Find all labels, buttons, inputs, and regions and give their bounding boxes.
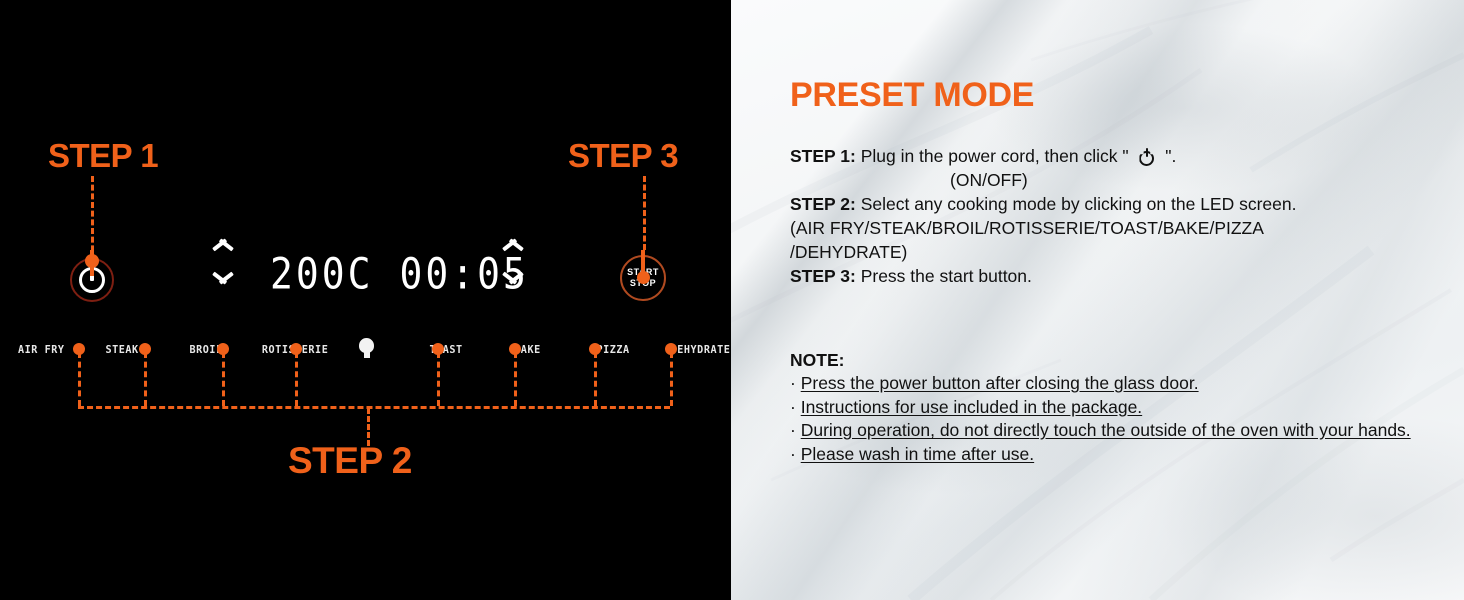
step-1-text-b: ". (1160, 146, 1176, 166)
connector-drop-3 (295, 352, 298, 406)
step-3-bold: STEP 3: (790, 266, 856, 286)
step-2-modes-line-2: /DEHYDRATE) (790, 240, 1450, 264)
note-item-text: During operation, do not directly touch … (801, 420, 1411, 440)
chevron-up-icon[interactable] (210, 238, 236, 253)
note-list: · Press the power button after closing t… (790, 372, 1464, 466)
power-icon (1138, 148, 1155, 165)
note-item-2: · Instructions for use included in the p… (790, 396, 1464, 420)
instructions-content: PRESET MODE STEP 1: Plug in the power co… (790, 0, 1450, 600)
temperature-stepper[interactable] (203, 238, 243, 296)
step-2-text: Select any cooking mode by clicking on t… (856, 194, 1297, 214)
note-bullet: · (790, 397, 801, 417)
step-2-modes-line-1: (AIR FRY/STEAK/BROIL/ROTISSERIE/TOAST/BA… (790, 216, 1450, 240)
step-3-connector-line (643, 176, 646, 250)
bulb-head (359, 338, 374, 353)
connector-drop-2 (222, 352, 225, 406)
instructions-panel: PRESET MODE STEP 1: Plug in the power co… (731, 0, 1464, 600)
connector-bus (78, 406, 670, 409)
note-title: NOTE: (790, 348, 1464, 372)
preset-mode-infographic: STEP 1 STEP 3 STEP 2 200C 00:05 (0, 0, 1464, 600)
page-title: PRESET MODE (790, 76, 1034, 115)
connector-drop-1 (144, 352, 147, 406)
power-pointer-dot (85, 254, 99, 268)
note-item-text: Instructions for use included in the pac… (801, 397, 1142, 417)
note-item-4: · Please wash in time after use. (790, 443, 1464, 467)
control-panel-illustration: STEP 1 STEP 3 STEP 2 200C 00:05 (0, 0, 731, 600)
step-2-connector-tree (0, 352, 731, 412)
step-2-connector-line (367, 408, 370, 446)
connector-drop-5 (514, 352, 517, 406)
led-screen[interactable]: 200C 00:05 (270, 252, 470, 296)
step-3-label: STEP 3 (568, 137, 678, 175)
chevron-down-icon[interactable] (210, 281, 236, 296)
step-1-instruction: STEP 1: Plug in the power cord, then cli… (790, 144, 1450, 168)
note-block: NOTE: · Press the power button after clo… (790, 348, 1464, 466)
on-off-note: (ON/OFF) (790, 168, 1450, 192)
chevron-up-icon[interactable] (500, 238, 526, 253)
note-bullet: · (790, 373, 801, 393)
connector-drop-4 (437, 352, 440, 406)
step-2-label: STEP 2 (288, 440, 412, 482)
step-1-connector-line (91, 176, 94, 260)
note-bullet: · (790, 420, 801, 440)
note-item-text: Press the power button after closing the… (801, 373, 1199, 393)
step-1-label: STEP 1 (48, 137, 158, 175)
note-item-text: Please wash in time after use. (801, 444, 1034, 464)
connector-drop-0 (78, 352, 81, 406)
led-temperature-value: 200C (270, 253, 374, 296)
step-1-bold: STEP 1: (790, 146, 856, 166)
connector-drop-6 (594, 352, 597, 406)
start-stop-pointer-dot (637, 271, 650, 284)
step-2-instruction: STEP 2: Select any cooking mode by click… (790, 192, 1450, 216)
step-1-text-a: Plug in the power cord, then click " (856, 146, 1134, 166)
timer-stepper[interactable] (493, 238, 533, 296)
note-item-1: · Press the power button after closing t… (790, 372, 1464, 396)
step-3-instruction: STEP 3: Press the start button. (790, 264, 1450, 288)
connector-drop-7 (670, 352, 673, 406)
chevron-down-icon[interactable] (500, 281, 526, 296)
step-2-bold: STEP 2: (790, 194, 856, 214)
steps-block: STEP 1: Plug in the power cord, then cli… (790, 144, 1450, 288)
note-item-3: · During operation, do not directly touc… (790, 419, 1464, 443)
step-3-text: Press the start button. (856, 266, 1032, 286)
note-bullet: · (790, 444, 801, 464)
